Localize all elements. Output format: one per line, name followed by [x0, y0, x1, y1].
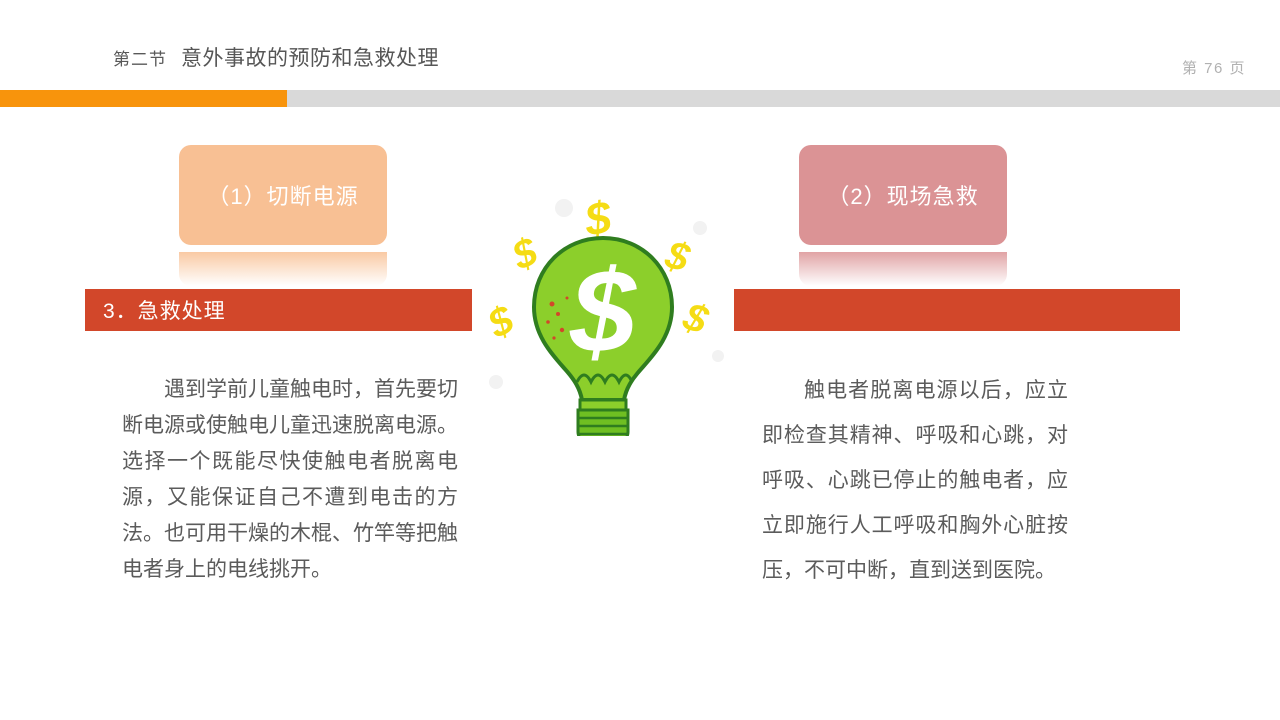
section-banner-label: 3．急救处理 — [103, 295, 226, 325]
page-number: 第 76 页 — [1182, 57, 1246, 78]
divider-bar-orange — [0, 90, 287, 107]
lightbulb-dollar-illustration: $ $ $ $ $ $ — [472, 186, 734, 436]
callout-box-cut-power[interactable]: （1）切断电源 — [179, 145, 387, 245]
callout-label-2: （2）现场急救 — [799, 179, 1007, 211]
section-title-text: 意外事故的预防和急救处理 — [181, 47, 439, 70]
callout-reflection-1 — [179, 252, 387, 286]
slide-header: 第二节意外事故的预防和急救处理 第 76 页 — [0, 0, 1280, 88]
body-paragraph-right-text: 触电者脱离电源以后，应立即检查其精神、呼吸和心跳，对呼吸、心跳已停止的触电者，应… — [762, 368, 1068, 593]
callout-label-1: （1）切断电源 — [179, 179, 387, 211]
svg-text:$: $ — [569, 246, 637, 378]
svg-text:$: $ — [505, 229, 544, 279]
body-paragraph-left-text: 遇到学前儿童触电时，首先要切断电源或使触电儿童迅速脱离电源。选择一个既能尽快使触… — [122, 372, 458, 588]
svg-text:$: $ — [480, 297, 521, 347]
callout-box-onsite-first-aid[interactable]: （2）现场急救 — [799, 145, 1007, 245]
body-paragraph-left: 遇到学前儿童触电时，首先要切断电源或使触电儿童迅速脱离电源。选择一个既能尽快使触… — [122, 372, 458, 588]
callout-reflection-2 — [799, 252, 1007, 286]
body-paragraph-right: 触电者脱离电源以后，应立即检查其精神、呼吸和心跳，对呼吸、心跳已停止的触电者，应… — [762, 368, 1068, 593]
section-number: 第二节 — [113, 50, 167, 69]
svg-text:$: $ — [677, 294, 715, 344]
page-title: 第二节意外事故的预防和急救处理 — [113, 42, 439, 72]
